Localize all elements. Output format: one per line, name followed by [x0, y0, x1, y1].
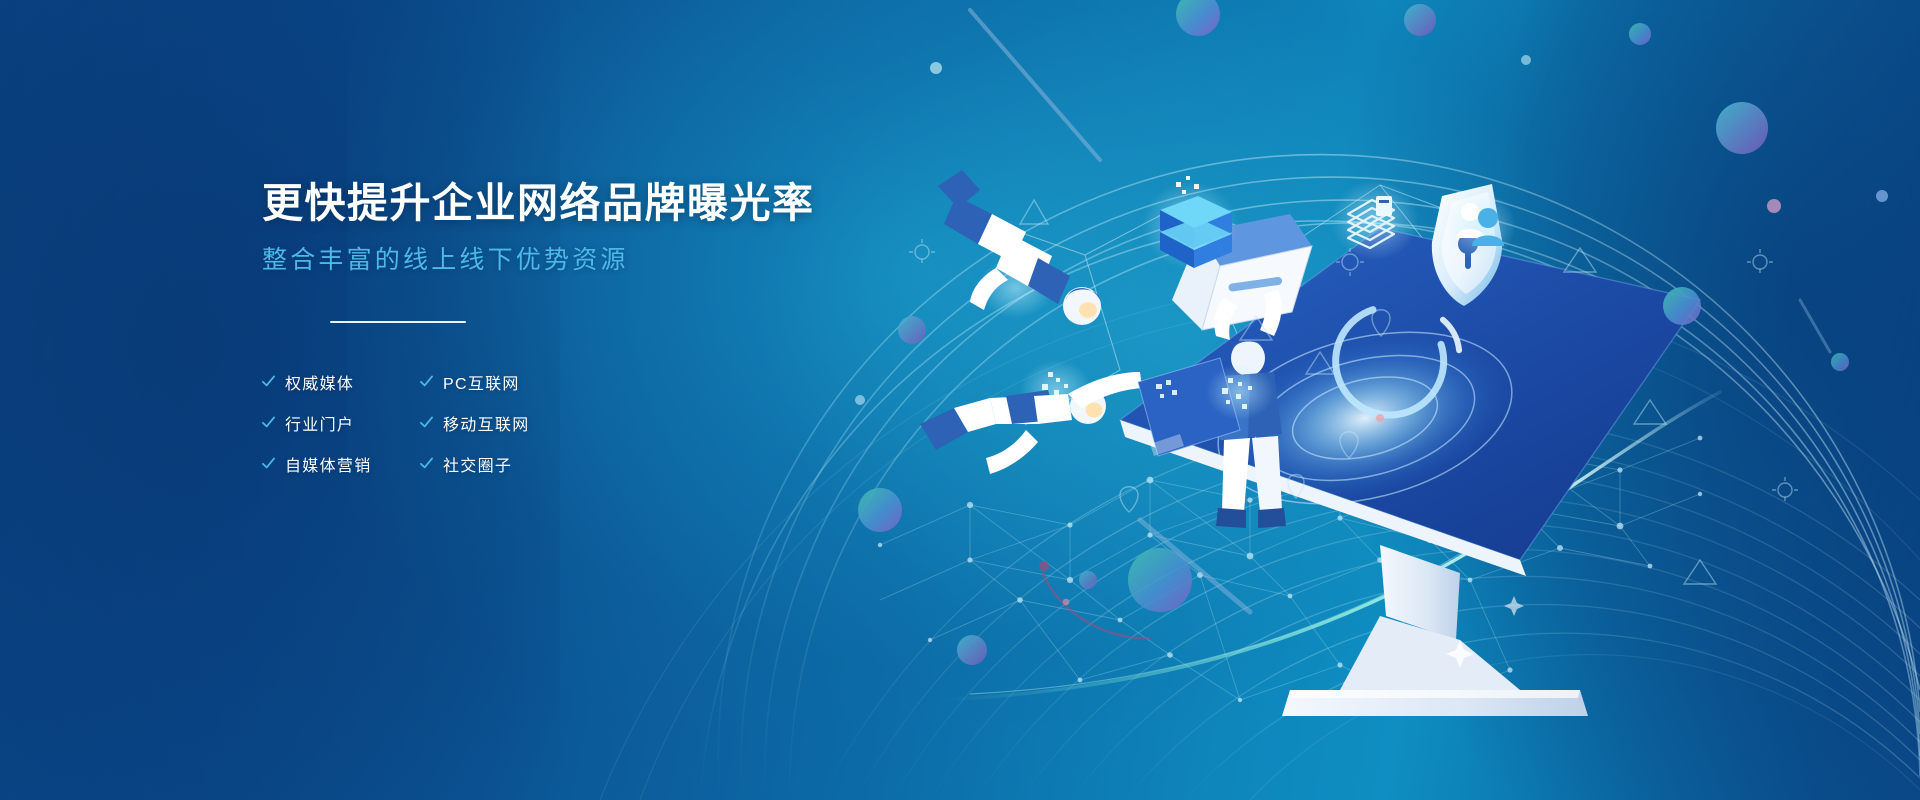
check-icon — [262, 416, 275, 429]
check-icon — [420, 416, 433, 429]
page-subtitle: 整合丰富的线上线下优势资源 — [262, 245, 902, 275]
feature-label: 权威媒体 — [285, 370, 354, 394]
check-icon — [420, 375, 433, 388]
feature-label: 社交圈子 — [443, 452, 512, 476]
title-divider — [330, 321, 466, 323]
feature-item-self-media-marketing[interactable]: 自媒体营销 — [262, 452, 420, 476]
feature-label: 移动互联网 — [443, 411, 530, 435]
feature-list: 权威媒体 PC互联网 行业门户 移动互联网 — [262, 370, 592, 476]
feature-label: PC互联网 — [443, 370, 520, 394]
feature-label: 自媒体营销 — [285, 452, 372, 476]
page-title: 更快提升企业网络品牌曝光率 — [262, 180, 902, 228]
banner-content: 更快提升企业网络品牌曝光率 整合丰富的线上线下优势资源 权威媒体 PC互联网 — [262, 180, 902, 476]
check-icon — [420, 457, 433, 470]
check-icon — [262, 375, 275, 388]
feature-item-authoritative-media[interactable]: 权威媒体 — [262, 370, 420, 394]
hero-banner: 更快提升企业网络品牌曝光率 整合丰富的线上线下优势资源 权威媒体 PC互联网 — [0, 0, 1920, 800]
feature-item-mobile-internet[interactable]: 移动互联网 — [420, 411, 592, 435]
feature-item-social-circles[interactable]: 社交圈子 — [420, 452, 592, 476]
feature-item-pc-internet[interactable]: PC互联网 — [420, 370, 592, 394]
check-icon — [262, 457, 275, 470]
feature-item-industry-portal[interactable]: 行业门户 — [262, 411, 420, 435]
feature-label: 行业门户 — [285, 411, 354, 435]
